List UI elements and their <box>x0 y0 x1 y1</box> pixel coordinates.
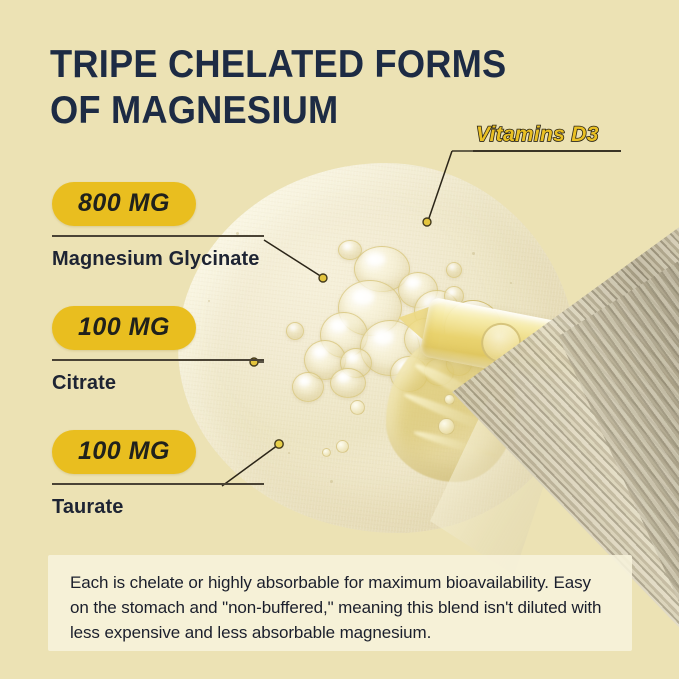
spec-rule <box>52 359 264 361</box>
blob-speck <box>330 480 333 483</box>
dosage-badge-glycinate: 800 MG <box>52 182 196 226</box>
footer-description-box: Each is chelate or highly absorbable for… <box>48 555 632 651</box>
spec-item-citrate: 100 MG Citrate <box>52 306 264 395</box>
mini-droplet <box>350 400 365 415</box>
spec-rule <box>52 235 264 237</box>
mini-droplet <box>336 440 349 453</box>
dosage-badge-taurate: 100 MG <box>52 430 196 474</box>
blob-speck <box>208 300 210 302</box>
blob-speck <box>510 282 512 284</box>
mini-droplet <box>438 418 455 435</box>
footer-description-text: Each is chelate or highly absorbable for… <box>70 571 610 646</box>
spec-item-glycinate: 800 MG Magnesium Glycinate <box>52 182 264 271</box>
bubble <box>286 322 304 340</box>
bubble <box>330 368 366 398</box>
spec-label-citrate: Citrate <box>52 372 264 395</box>
blob-speck <box>288 452 290 454</box>
page-title: TRIPE CHELATED FORMS OF MAGNESIUM <box>50 42 571 134</box>
bubble <box>292 372 324 402</box>
callout-vitamins-d3: Vitamins D3 <box>476 123 599 147</box>
callout-vitamins-d3-label: Vitamins D3 <box>476 123 599 147</box>
mini-droplet <box>322 448 331 457</box>
callout-vitamins-d3-rule <box>473 150 621 152</box>
bubble <box>338 240 362 260</box>
spec-label-taurate: Taurate <box>52 496 264 519</box>
magnesium-infographic: TRIPE CHELATED FORMS OF MAGNESIUM Vitami… <box>0 0 679 679</box>
spec-label-glycinate: Magnesium Glycinate <box>52 248 264 271</box>
mini-droplet <box>444 394 455 405</box>
bubble <box>446 262 462 278</box>
spec-item-taurate: 100 MG Taurate <box>52 430 264 519</box>
spec-rule <box>52 483 264 485</box>
dosage-badge-citrate: 100 MG <box>52 306 196 350</box>
blob-speck <box>472 252 475 255</box>
